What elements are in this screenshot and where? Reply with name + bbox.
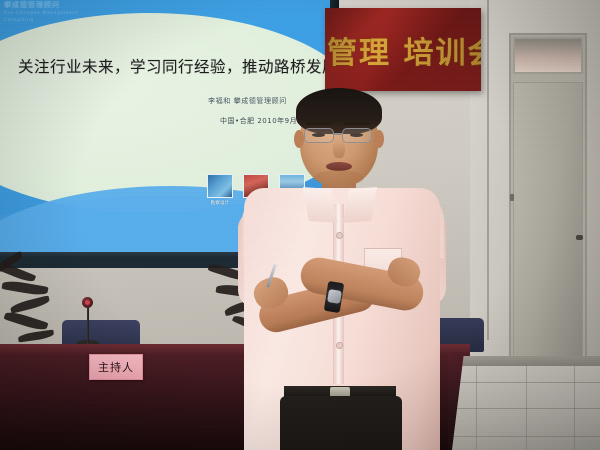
door-handle-icon[interactable] <box>576 235 583 240</box>
photograph-conference-room: 攀成德管理顾问 Pan-Chengde Management Consultin… <box>0 0 600 450</box>
door-panel[interactable] <box>513 82 583 381</box>
eyebrow-right <box>344 122 370 125</box>
ear-left <box>294 130 304 148</box>
trousers <box>280 396 402 450</box>
glasses-lens-right <box>342 128 372 143</box>
microphone-stand <box>87 304 89 346</box>
wristwatch-face-icon <box>327 289 342 304</box>
shirt-button <box>336 342 343 349</box>
chin <box>314 170 364 186</box>
person-speaker <box>238 92 468 450</box>
name-card-host: 主持人 <box>89 354 143 380</box>
slide-corner-logo: 攀成德管理顾问 Pan-Chengde Management Consultin… <box>4 1 90 19</box>
banner-shading <box>325 8 481 91</box>
shirt-button <box>336 232 343 239</box>
floor-tile-line <box>476 360 477 450</box>
glasses-lens-left <box>304 128 334 143</box>
microphone-indicator-light <box>85 300 90 305</box>
slide-logo-line2: Pan-Chengde Management Consulting <box>4 10 90 24</box>
slide-logo-line1: 攀成德管理顾问 <box>4 1 90 10</box>
wall-baseboard <box>448 356 600 366</box>
red-banner: 管理 培训会 <box>325 8 481 91</box>
wall-corner-seam <box>487 0 489 340</box>
floor-tile-line <box>574 360 575 450</box>
thumbnail-caption: 勘察设计 <box>207 200 233 206</box>
slide-title: 关注行业未来，学习同行经验，推动路桥发展 <box>18 55 318 77</box>
glasses-bridge <box>334 133 342 135</box>
floor-tile-line <box>526 360 527 450</box>
ear-right <box>374 130 384 148</box>
name-card-text: 主持人 <box>98 359 134 375</box>
nose <box>333 140 345 158</box>
door-transom-window <box>513 37 583 74</box>
eyebrow-left <box>306 122 332 125</box>
door-latch-icon <box>510 194 514 201</box>
thumbnail-image-survey-design <box>207 174 233 198</box>
slide-thumbnail: 勘察设计 <box>207 174 233 206</box>
